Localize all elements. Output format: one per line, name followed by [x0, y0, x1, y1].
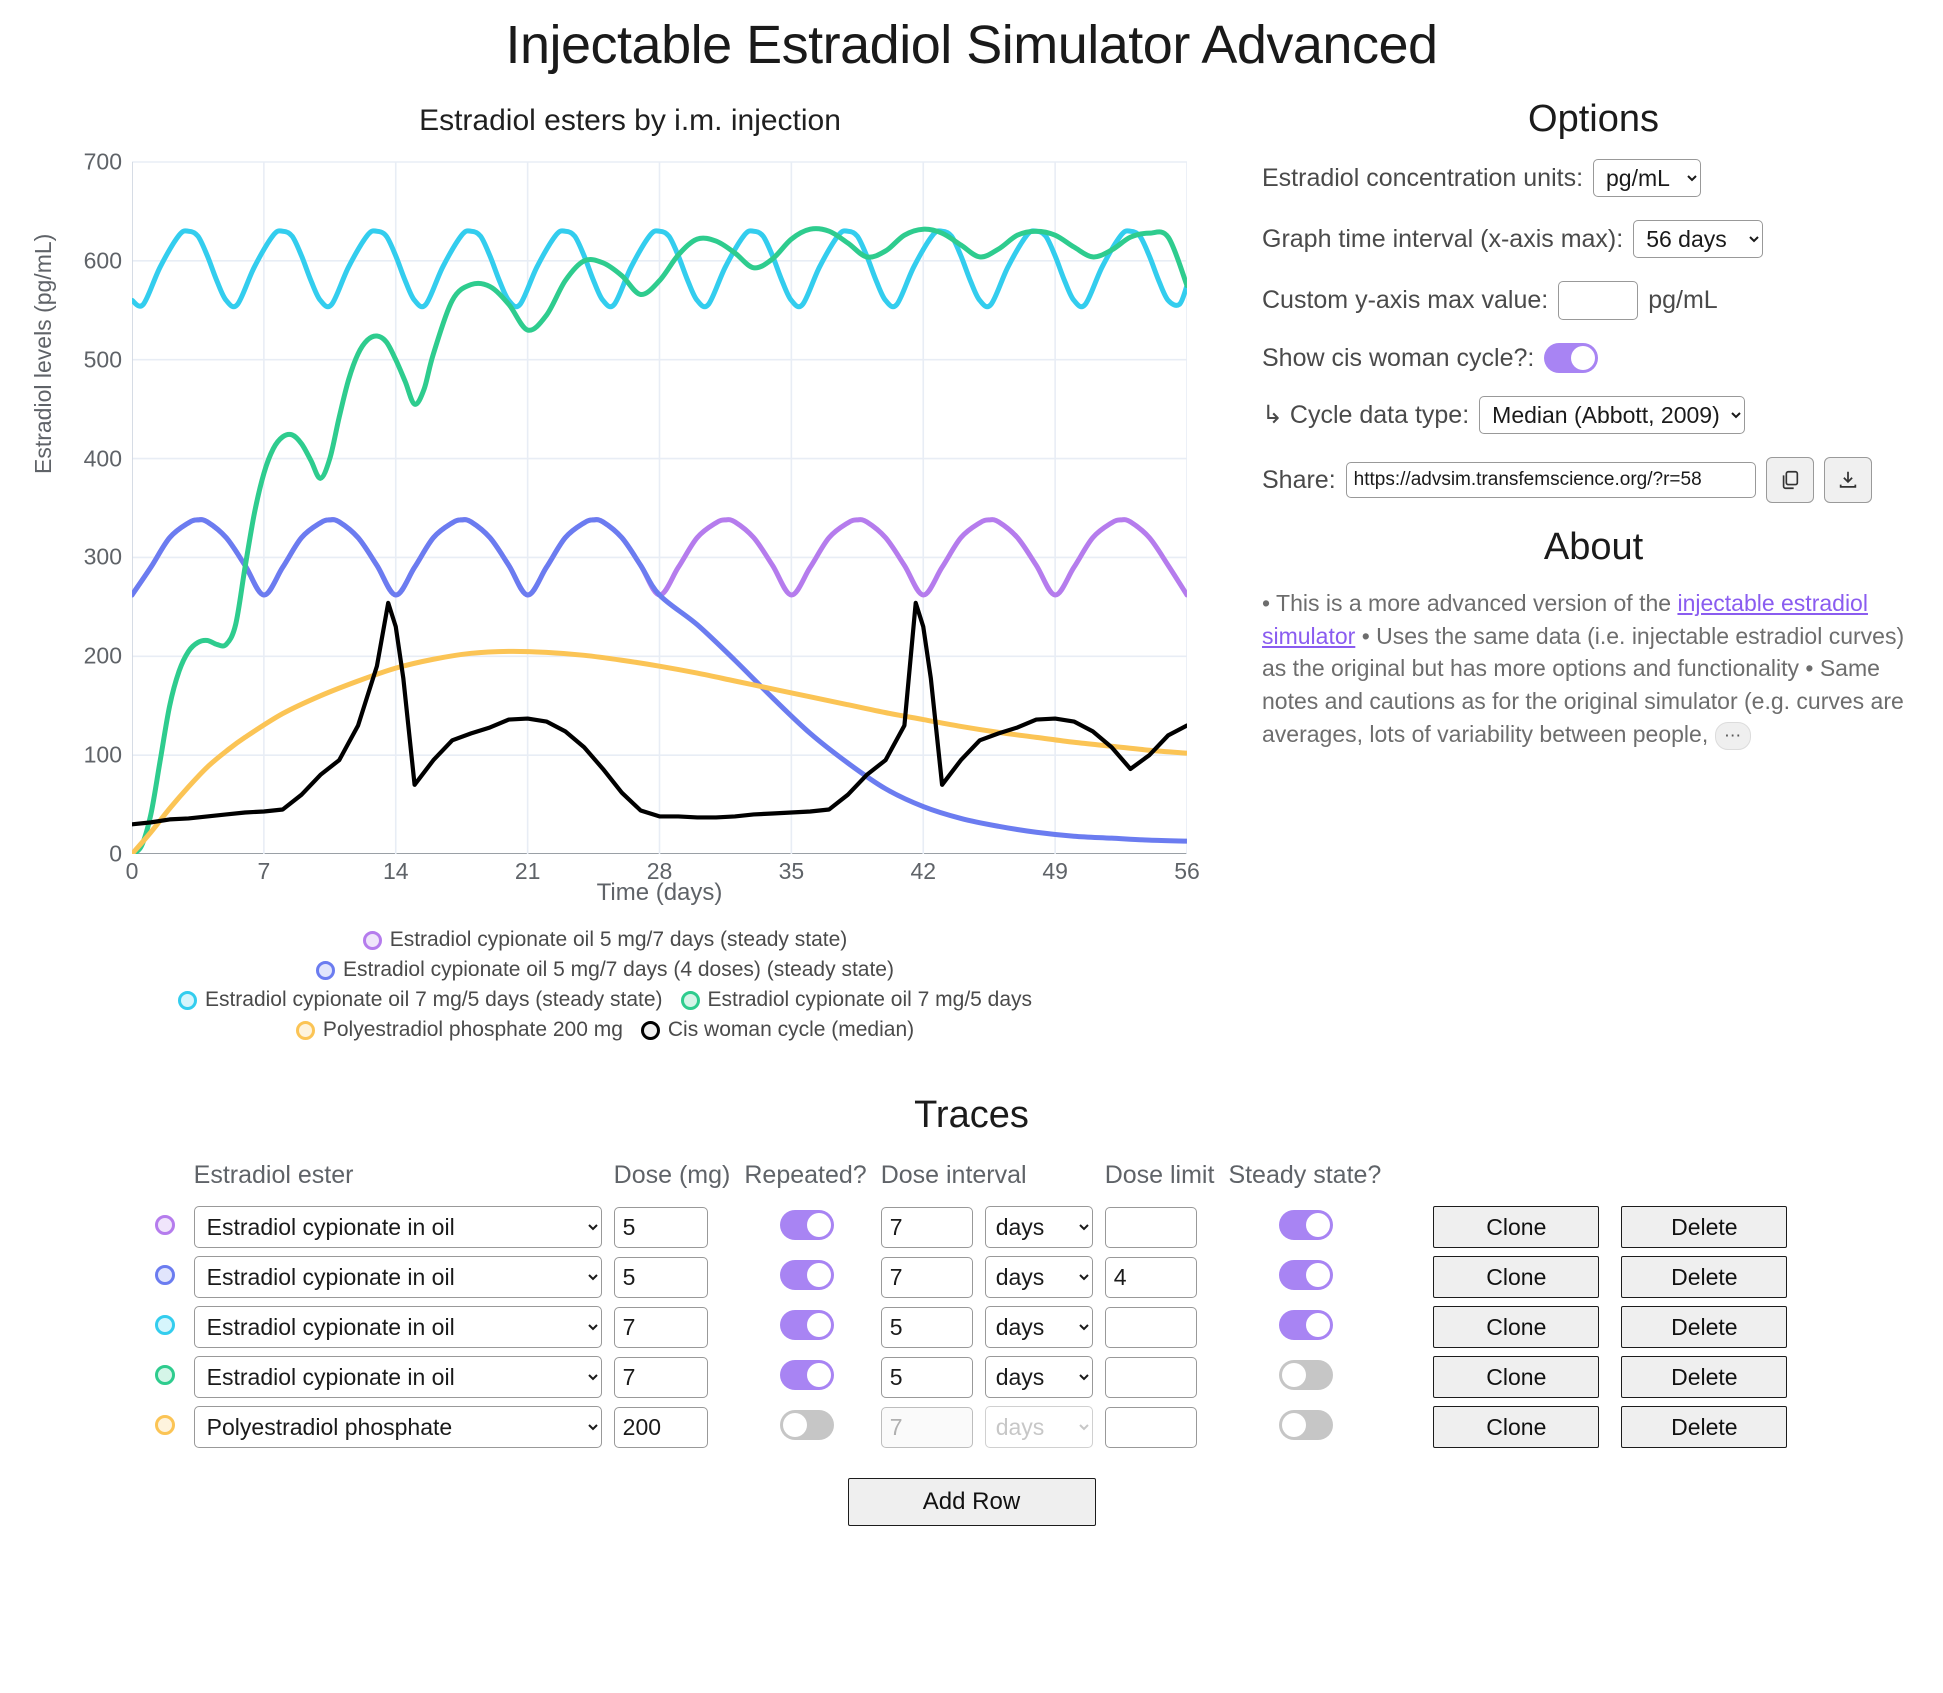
y-axis-ticks: 0100200300400500600700 — [12, 154, 122, 854]
time-interval-select[interactable]: 7 days14 days28 days56 days112 days — [1633, 220, 1763, 258]
trace-color-cell — [146, 1352, 192, 1402]
legend-swatch-icon — [363, 931, 382, 950]
repeated-toggle[interactable] — [780, 1310, 834, 1340]
dose-input[interactable] — [614, 1307, 708, 1348]
traces-table-head: Estradiol ester Dose (mg) Repeated? Dose… — [146, 1161, 1798, 1202]
delete-cell: Delete — [1609, 1402, 1797, 1452]
delete-cell: Delete — [1609, 1202, 1797, 1252]
cycle-type-row: ↳ Cycle data type: Median (Abbott, 2009)… — [1244, 396, 1943, 434]
dose-input[interactable] — [614, 1407, 708, 1448]
legend-label: Cis woman cycle (median) — [668, 1018, 914, 1042]
y-tick-label: 400 — [44, 445, 122, 472]
interval-input[interactable] — [881, 1357, 973, 1398]
share-label: Share: — [1262, 466, 1336, 495]
steady-state-cell — [1226, 1202, 1393, 1252]
table-row: Estradiol cypionate in oilEstradiol vale… — [146, 1202, 1798, 1252]
interval-unit-cell: daysweeksmonths — [983, 1302, 1103, 1352]
clone-cell: Clone — [1393, 1202, 1609, 1252]
repeated-toggle[interactable] — [780, 1210, 834, 1240]
ester-cell: Estradiol cypionate in oilEstradiol vale… — [192, 1202, 612, 1252]
y-tick-label: 500 — [44, 346, 122, 373]
legend-item[interactable]: Estradiol cypionate oil 7 mg/5 days (ste… — [178, 988, 663, 1012]
options-column: Options Estradiol concentration units: p… — [1220, 76, 1943, 1048]
y-tick-label: 200 — [44, 643, 122, 670]
download-icon[interactable] — [1824, 457, 1872, 503]
clone-cell: Clone — [1393, 1402, 1609, 1452]
trace-color-swatch-icon — [155, 1365, 175, 1385]
ester-cell: Estradiol cypionate in oilEstradiol vale… — [192, 1252, 612, 1302]
x-axis-label: Time (days) — [132, 879, 1187, 907]
trace-color-swatch-icon — [155, 1215, 175, 1235]
dose-cell — [612, 1352, 743, 1402]
options-heading: Options — [1244, 98, 1943, 141]
dose-limit-cell — [1103, 1352, 1227, 1402]
traces-table-body: Estradiol cypionate in oilEstradiol vale… — [146, 1202, 1798, 1452]
steady-state-toggle[interactable] — [1279, 1410, 1333, 1440]
dose-cell — [612, 1302, 743, 1352]
legend-item[interactable]: Estradiol cypionate oil 5 mg/7 days (ste… — [363, 928, 848, 952]
show-more-icon[interactable]: ⋯ — [1715, 722, 1751, 750]
add-row-button[interactable]: Add Row — [848, 1478, 1096, 1526]
interval-unit-select[interactable]: daysweeksmonths — [985, 1356, 1093, 1398]
col-dose-limit: Dose limit — [1103, 1161, 1227, 1202]
cycle-type-label: ↳ Cycle data type: — [1262, 400, 1469, 430]
traces-header-row: Estradiol ester Dose (mg) Repeated? Dose… — [146, 1161, 1798, 1202]
copy-icon[interactable] — [1766, 457, 1814, 503]
y-tick-label: 100 — [44, 742, 122, 769]
interval-cell — [879, 1302, 983, 1352]
dose-limit-input[interactable] — [1105, 1357, 1197, 1398]
dose-input[interactable] — [614, 1357, 708, 1398]
custom-ymax-label: Custom y-axis max value: — [1262, 286, 1548, 315]
dose-limit-cell — [1103, 1202, 1227, 1252]
chart-title: Estradiol esters by i.m. injection — [0, 104, 1220, 138]
y-tick-label: 700 — [44, 149, 122, 176]
about-text-before: • This is a more advanced version of the — [1262, 590, 1677, 616]
cycle-type-select[interactable]: Median (Abbott, 2009)Mean (Stricker, 200… — [1479, 396, 1745, 434]
dose-limit-input[interactable] — [1105, 1407, 1197, 1448]
delete-cell: Delete — [1609, 1302, 1797, 1352]
col-ester: Estradiol ester — [192, 1161, 612, 1202]
table-row: Estradiol cypionate in oilEstradiol vale… — [146, 1302, 1798, 1352]
add-row-wrap: Add Row — [0, 1478, 1943, 1526]
interval-unit-cell: daysweeksmonths — [983, 1402, 1103, 1452]
main-columns: Estradiol esters by i.m. injection Estra… — [0, 76, 1943, 1048]
repeated-cell — [742, 1202, 878, 1252]
table-row: Estradiol cypionate in oilEstradiol vale… — [146, 1402, 1798, 1452]
col-steady-state: Steady state? — [1226, 1161, 1393, 1202]
legend-item[interactable]: Estradiol cypionate oil 7 mg/5 days — [681, 988, 1033, 1012]
legend-label: Polyestradiol phosphate 200 mg — [323, 1018, 623, 1042]
legend-swatch-icon — [316, 961, 335, 980]
legend-row: Estradiol cypionate oil 5 mg/7 days (ste… — [10, 928, 1200, 952]
y-tick-label: 0 — [44, 841, 122, 868]
traces-heading: Traces — [0, 1094, 1943, 1137]
dose-input[interactable] — [614, 1207, 708, 1248]
plot-svg — [132, 154, 1187, 854]
ester-select[interactable]: Estradiol cypionate in oilEstradiol vale… — [194, 1356, 602, 1398]
ester-cell: Estradiol cypionate in oilEstradiol vale… — [192, 1402, 612, 1452]
units-label: Estradiol concentration units: — [1262, 164, 1583, 193]
legend-label: Estradiol cypionate oil 5 mg/7 days (ste… — [390, 928, 848, 952]
delete-button[interactable]: Delete — [1621, 1406, 1787, 1448]
interval-unit-select[interactable]: daysweeksmonths — [985, 1256, 1093, 1298]
ester-select[interactable]: Estradiol cypionate in oilEstradiol vale… — [194, 1256, 602, 1298]
dose-limit-input[interactable] — [1105, 1307, 1197, 1348]
ester-select[interactable]: Estradiol cypionate in oilEstradiol vale… — [194, 1306, 602, 1348]
custom-ymax-row: Custom y-axis max value: pg/mL — [1244, 281, 1943, 320]
interval-cell — [879, 1402, 983, 1452]
traces-table: Estradiol ester Dose (mg) Repeated? Dose… — [146, 1161, 1798, 1452]
table-row: Estradiol cypionate in oilEstradiol vale… — [146, 1352, 1798, 1402]
steady-state-cell — [1226, 1302, 1393, 1352]
clone-button[interactable]: Clone — [1433, 1356, 1599, 1398]
dose-cell — [612, 1252, 743, 1302]
legend-row: Estradiol cypionate oil 5 mg/7 days (4 d… — [10, 958, 1200, 982]
interval-cell — [879, 1352, 983, 1402]
about-text-after: • Uses the same data (i.e. injectable es… — [1262, 623, 1904, 747]
dose-cell — [612, 1202, 743, 1252]
y-tick-label: 600 — [44, 247, 122, 274]
trace-color-cell — [146, 1252, 192, 1302]
interval-input[interactable] — [881, 1257, 973, 1298]
about-heading: About — [1244, 526, 1943, 569]
steady-state-toggle[interactable] — [1279, 1310, 1333, 1340]
repeated-toggle[interactable] — [780, 1360, 834, 1390]
delete-button[interactable]: Delete — [1621, 1206, 1787, 1248]
col-swatch — [146, 1161, 192, 1202]
delete-button[interactable]: Delete — [1621, 1356, 1787, 1398]
dose-limit-cell — [1103, 1302, 1227, 1352]
repeated-cell — [742, 1252, 878, 1302]
legend-label: Estradiol cypionate oil 5 mg/7 days (4 d… — [343, 958, 894, 982]
legend-row: Estradiol cypionate oil 7 mg/5 days (ste… — [10, 988, 1200, 1012]
trace-color-swatch-icon — [155, 1315, 175, 1335]
legend-item[interactable]: Estradiol cypionate oil 5 mg/7 days (4 d… — [316, 958, 894, 982]
table-row: Estradiol cypionate in oilEstradiol vale… — [146, 1252, 1798, 1302]
repeated-toggle[interactable] — [780, 1260, 834, 1290]
col-dose: Dose (mg) — [612, 1161, 743, 1202]
ester-select[interactable]: Estradiol cypionate in oilEstradiol vale… — [194, 1406, 602, 1448]
share-url-input[interactable] — [1346, 462, 1756, 498]
custom-ymax-suffix: pg/mL — [1648, 286, 1717, 315]
clone-cell: Clone — [1393, 1302, 1609, 1352]
legend-item[interactable]: Cis woman cycle (median) — [641, 1018, 914, 1042]
legend-label: Estradiol cypionate oil 7 mg/5 days (ste… — [205, 988, 663, 1012]
plot-canvas — [132, 154, 1187, 854]
repeated-cell — [742, 1302, 878, 1352]
delete-button[interactable]: Delete — [1621, 1306, 1787, 1348]
dose-limit-cell — [1103, 1402, 1227, 1452]
col-dose-interval: Dose interval — [879, 1161, 1103, 1202]
steady-state-cell — [1226, 1402, 1393, 1452]
clone-button[interactable]: Clone — [1433, 1406, 1599, 1448]
clone-cell: Clone — [1393, 1252, 1609, 1302]
interval-input[interactable] — [881, 1207, 973, 1248]
col-clone — [1393, 1161, 1609, 1202]
col-repeated: Repeated? — [742, 1161, 878, 1202]
trace-color-cell — [146, 1302, 192, 1352]
about-text: • This is a more advanced version of the… — [1244, 587, 1943, 750]
show-cycle-row: Show cis woman cycle?: — [1244, 343, 1943, 373]
show-cycle-label: Show cis woman cycle?: — [1262, 344, 1534, 373]
show-cycle-toggle[interactable] — [1544, 343, 1598, 373]
legend-swatch-icon — [178, 991, 197, 1010]
interval-unit-select[interactable]: daysweeksmonths — [985, 1206, 1093, 1248]
ester-cell: Estradiol cypionate in oilEstradiol vale… — [192, 1352, 612, 1402]
units-select[interactable]: pg/mLpmol/L — [1593, 159, 1701, 197]
interval-unit-cell: daysweeksmonths — [983, 1252, 1103, 1302]
steady-state-cell — [1226, 1352, 1393, 1402]
custom-ymax-input[interactable] — [1558, 281, 1638, 320]
delete-cell: Delete — [1609, 1352, 1797, 1402]
clone-button[interactable]: Clone — [1433, 1256, 1599, 1298]
dose-limit-input[interactable] — [1105, 1207, 1197, 1248]
legend-swatch-icon — [296, 1021, 315, 1040]
steady-state-toggle[interactable] — [1279, 1260, 1333, 1290]
dose-cell — [612, 1402, 743, 1452]
steady-state-toggle[interactable] — [1279, 1210, 1333, 1240]
legend-swatch-icon — [641, 1021, 660, 1040]
steady-state-toggle[interactable] — [1279, 1360, 1333, 1390]
ester-cell: Estradiol cypionate in oilEstradiol vale… — [192, 1302, 612, 1352]
interval-cell — [879, 1202, 983, 1252]
units-row: Estradiol concentration units: pg/mLpmol… — [1244, 159, 1943, 197]
legend-item[interactable]: Polyestradiol phosphate 200 mg — [296, 1018, 623, 1042]
chart-legend: Estradiol cypionate oil 5 mg/7 days (ste… — [10, 928, 1200, 1042]
legend-swatch-icon — [681, 991, 700, 1010]
interval-input[interactable] — [881, 1407, 973, 1448]
legend-label: Estradiol cypionate oil 7 mg/5 days — [708, 988, 1033, 1012]
trace-color-swatch-icon — [155, 1415, 175, 1435]
interval-unit-select[interactable]: daysweeksmonths — [985, 1306, 1093, 1348]
dose-input[interactable] — [614, 1257, 708, 1298]
chart-column: Estradiol esters by i.m. injection Estra… — [0, 76, 1220, 1048]
legend-row: Polyestradiol phosphate 200 mgCis woman … — [10, 1018, 1200, 1042]
interval-unit-select[interactable]: daysweeksmonths — [985, 1406, 1093, 1448]
page-title: Injectable Estradiol Simulator Advanced — [0, 14, 1943, 76]
clone-cell: Clone — [1393, 1352, 1609, 1402]
chart-area: Estradiol levels (pg/mL) 010020030040050… — [12, 144, 1192, 904]
share-row: Share: — [1244, 457, 1943, 503]
trace-color-swatch-icon — [155, 1265, 175, 1285]
repeated-toggle[interactable] — [780, 1410, 834, 1440]
time-interval-row: Graph time interval (x-axis max): 7 days… — [1244, 220, 1943, 258]
dose-limit-cell — [1103, 1252, 1227, 1302]
ester-select[interactable]: Estradiol cypionate in oilEstradiol vale… — [194, 1206, 602, 1248]
col-delete — [1609, 1161, 1797, 1202]
interval-input[interactable] — [881, 1307, 973, 1348]
dose-limit-input[interactable] — [1105, 1257, 1197, 1298]
trace-color-cell — [146, 1202, 192, 1252]
interval-unit-cell: daysweeksmonths — [983, 1202, 1103, 1252]
steady-state-cell — [1226, 1252, 1393, 1302]
repeated-cell — [742, 1352, 878, 1402]
trace-color-cell — [146, 1402, 192, 1452]
delete-button[interactable]: Delete — [1621, 1256, 1787, 1298]
clone-button[interactable]: Clone — [1433, 1306, 1599, 1348]
interval-cell — [879, 1252, 983, 1302]
y-tick-label: 300 — [44, 544, 122, 571]
interval-unit-cell: daysweeksmonths — [983, 1352, 1103, 1402]
repeated-cell — [742, 1402, 878, 1452]
delete-cell: Delete — [1609, 1252, 1797, 1302]
clone-button[interactable]: Clone — [1433, 1206, 1599, 1248]
traces-section: Traces Estradiol ester Dose (mg) Repeate… — [0, 1094, 1943, 1526]
time-interval-label: Graph time interval (x-axis max): — [1262, 225, 1623, 254]
